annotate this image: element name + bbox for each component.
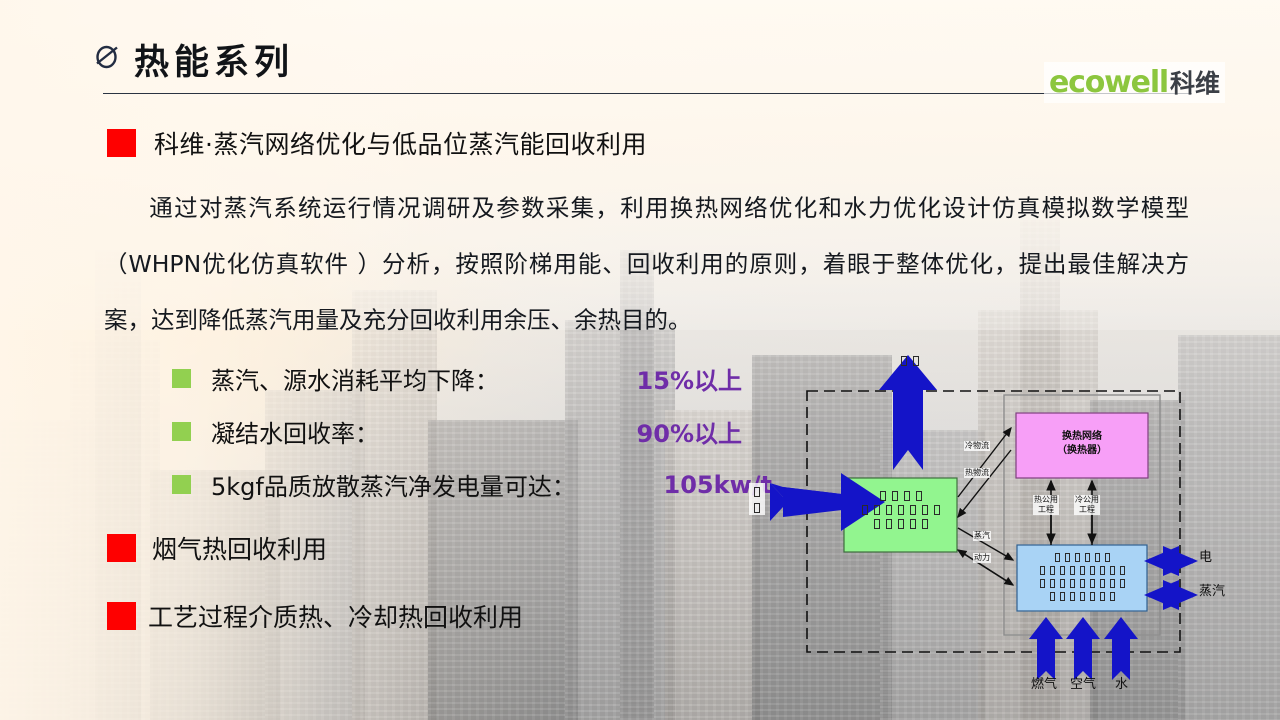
- red-square-bullet-icon: [107, 129, 136, 157]
- section-heading-label: 工艺过程介质热、冷却热回收利用: [148, 598, 523, 634]
- process-box-text: [844, 490, 957, 532]
- diagram-svg: [745, 345, 1280, 720]
- metric-label: 蒸汽、源水消耗平均下降：: [211, 361, 499, 396]
- section-heading-label: 烟气热回收利用: [152, 530, 327, 566]
- hot-stream-label: 热物流: [964, 468, 990, 478]
- paragraph-text: 通过对蒸汽系统运行情况调研及参数采集，利用换热网络优化和水力优化设计仿真模拟数学…: [104, 194, 1189, 334]
- network-subtitle: （换热器）: [1057, 445, 1107, 456]
- section-heading-label: 科维·蒸汽网络优化与低品位蒸汽能回收利用: [154, 125, 647, 161]
- logo-chinese-text: 科维: [1170, 64, 1220, 100]
- air-label: 空气: [1069, 680, 1097, 690]
- metric-row: 5kgf品质放散蒸汽净发电量可达： 105kw/t: [172, 458, 772, 511]
- network-title: 换热网络: [1062, 431, 1102, 442]
- top-output-label: [890, 350, 930, 369]
- metric-label: 5kgf品质放散蒸汽净发电量可达：: [211, 467, 576, 502]
- heat-exchange-network-label: 换热网络 （换热器）: [1016, 430, 1148, 458]
- title-divider: [103, 93, 1192, 94]
- air-arrow: [1066, 617, 1100, 680]
- cold-utility-line1: 冷公用: [1075, 495, 1099, 504]
- energy-flow-diagram: 换热网络 （换热器） 冷物流 热物流 蒸汽 动力 热公用 工程 冷公用: [745, 345, 1280, 720]
- hot-utility-line2: 工程: [1038, 505, 1054, 514]
- page-title: 热能系列: [134, 34, 294, 85]
- fuel-gas-arrow: [1029, 617, 1063, 680]
- red-square-bullet-icon: [107, 534, 136, 562]
- water-label: 水: [1114, 680, 1129, 690]
- hot-stream-arrow: [958, 450, 1011, 517]
- metric-label: 凝结水回收率：: [211, 414, 379, 449]
- water-arrow: [1104, 617, 1138, 680]
- section-heading-steam-network: 科维·蒸汽网络优化与低品位蒸汽能回收利用: [107, 125, 647, 161]
- hot-utility-line1: 热公用: [1034, 495, 1058, 504]
- input-feed-label: [749, 483, 765, 515]
- cold-utility-line2: 工程: [1079, 505, 1095, 514]
- cold-stream-label: 冷物流: [964, 441, 990, 451]
- circle-slash-icon: [92, 41, 122, 71]
- metric-row: 凝结水回收率： 90%以上: [172, 405, 772, 458]
- logo-latin-text: ecowell: [1049, 65, 1168, 100]
- utility-plant-text: [1017, 551, 1147, 603]
- electricity-label: 电: [1198, 553, 1213, 563]
- steam-output-label: 蒸汽: [1198, 587, 1226, 597]
- steam-stream-label: 蒸汽: [973, 531, 991, 541]
- ecowell-logo: ecowell 科维: [1044, 62, 1225, 103]
- green-square-bullet-icon: [172, 475, 191, 494]
- green-square-bullet-icon: [172, 422, 191, 441]
- green-square-bullet-icon: [172, 369, 191, 388]
- cold-utility-label: 冷公用 工程: [1074, 495, 1100, 515]
- power-stream-label: 动力: [973, 553, 991, 563]
- cold-stream-arrow: [958, 428, 1011, 497]
- output-up-arrow: [879, 355, 937, 470]
- metrics-list: 蒸汽、源水消耗平均下降： 15%以上 凝结水回收率： 90%以上 5kgf品质放…: [172, 352, 772, 511]
- red-square-bullet-icon: [107, 602, 136, 630]
- hot-utility-label: 热公用 工程: [1033, 495, 1059, 515]
- metric-row: 蒸汽、源水消耗平均下降： 15%以上: [172, 352, 772, 405]
- section-heading-process-heat: 工艺过程介质热、冷却热回收利用: [107, 598, 523, 634]
- body-paragraph: 通过对蒸汽系统运行情况调研及参数采集，利用换热网络优化和水力优化设计仿真模拟数学…: [104, 180, 1189, 348]
- fuel-gas-label: 燃气: [1030, 680, 1058, 690]
- section-heading-flue-gas: 烟气热回收利用: [107, 530, 327, 566]
